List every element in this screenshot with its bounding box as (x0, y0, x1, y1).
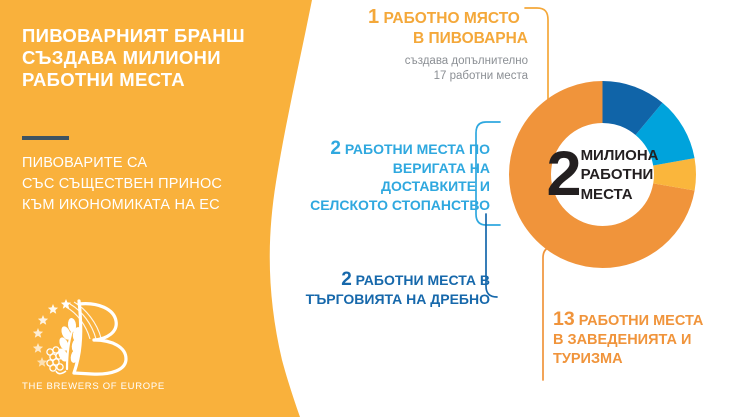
subtitle-line-3: КЪМ ИКОНОМИКАТА НА ЕС (22, 195, 292, 216)
callout-brewery-text-1: РАБОТНО МЯСТО (383, 10, 519, 27)
callout-hospitality-text-1: РАБОТНИ МЕСТА (579, 313, 704, 329)
callout-retail-line-1: 2 РАБОТНИ МЕСТА В (288, 271, 490, 290)
headline-line-3: РАБОТНИ МЕСТА (22, 69, 282, 91)
subtitle-line-1: ПИВОВАРИТЕ СА (22, 153, 292, 174)
callout-hospitality: 13 РАБОТНИ МЕСТА В ЗАВЕДЕНИЯТА И ТУРИЗМА (553, 310, 733, 369)
logo-wordmark: THE BREWERS OF EUROPE (22, 381, 162, 392)
callout-brewery-number: 1 (368, 6, 379, 28)
brewers-of-europe-logo: THE BREWERS OF EUROPE (22, 295, 162, 400)
callout-hospitality-line-3: ТУРИЗМА (553, 350, 733, 369)
infographic-canvas: ПИВОВАРНИЯТ БРАНШ СЪЗДАВА МИЛИОНИ РАБОТН… (0, 0, 740, 417)
callout-supply-number: 2 (330, 138, 341, 159)
callout-supply-line-1: 2 РАБОТНИ МЕСТА ПО (292, 140, 490, 159)
callout-supply-line-2: ВЕРИГАТА НА (292, 159, 490, 178)
callout-supply-text-1: РАБОТНИ МЕСТА ПО (345, 141, 490, 157)
callout-supply-line-3: ДОСТАВКИТЕ И (292, 177, 490, 196)
callout-brewery-sub-1: създава допълнително (368, 54, 528, 69)
callout-hospitality-number: 13 (553, 308, 575, 330)
donut-chart (505, 77, 700, 272)
headline-line-2: СЪЗДАВА МИЛИОНИ (22, 47, 282, 69)
callout-brewery-line-1: 1 РАБОТНО МЯСТО (368, 8, 528, 29)
callout-retail-number: 2 (341, 269, 352, 290)
callout-hospitality-line-2: В ЗАВЕДЕНИЯТА И (553, 331, 733, 350)
callout-retail-text-1: РАБОТНИ МЕСТА В (356, 272, 490, 288)
callout-brewery-line-2: В ПИВОВАРНА (368, 29, 528, 49)
subtitle: ПИВОВАРИТЕ СА СЪС СЪЩЕСТВЕН ПРИНОС КЪМ И… (22, 153, 292, 216)
callout-supply-chain: 2 РАБОТНИ МЕСТА ПО ВЕРИГАТА НА ДОСТАВКИТ… (292, 140, 490, 214)
callout-brewery-subtext: създава допълнително 17 работни места (368, 48, 528, 83)
page-title: ПИВОВАРНИЯТ БРАНШ СЪЗДАВА МИЛИОНИ РАБОТН… (22, 25, 282, 91)
callout-retail-line-2: ТЪРГОВИЯТА НА ДРЕБНО (288, 290, 490, 309)
callout-hospitality-line-1: 13 РАБОТНИ МЕСТА (553, 310, 733, 331)
headline-line-1: ПИВОВАРНИЯТ БРАНШ (22, 25, 282, 47)
subtitle-line-2: СЪС СЪЩЕСТВЕН ПРИНОС (22, 174, 292, 195)
callout-retail: 2 РАБОТНИ МЕСТА В ТЪРГОВИЯТА НА ДРЕБНО (288, 271, 490, 308)
left-panel-content: ПИВОВАРНИЯТ БРАНШ СЪЗДАВА МИЛИОНИ РАБОТН… (0, 0, 300, 417)
callout-brewery: 1 РАБОТНО МЯСТО В ПИВОВАРНА създава допъ… (368, 8, 528, 83)
title-divider (22, 136, 69, 140)
callout-supply-line-4: СЕЛСКОТО СТОПАНСТВО (292, 196, 490, 215)
callout-brewery-sub-2: 17 работни места (368, 69, 528, 84)
